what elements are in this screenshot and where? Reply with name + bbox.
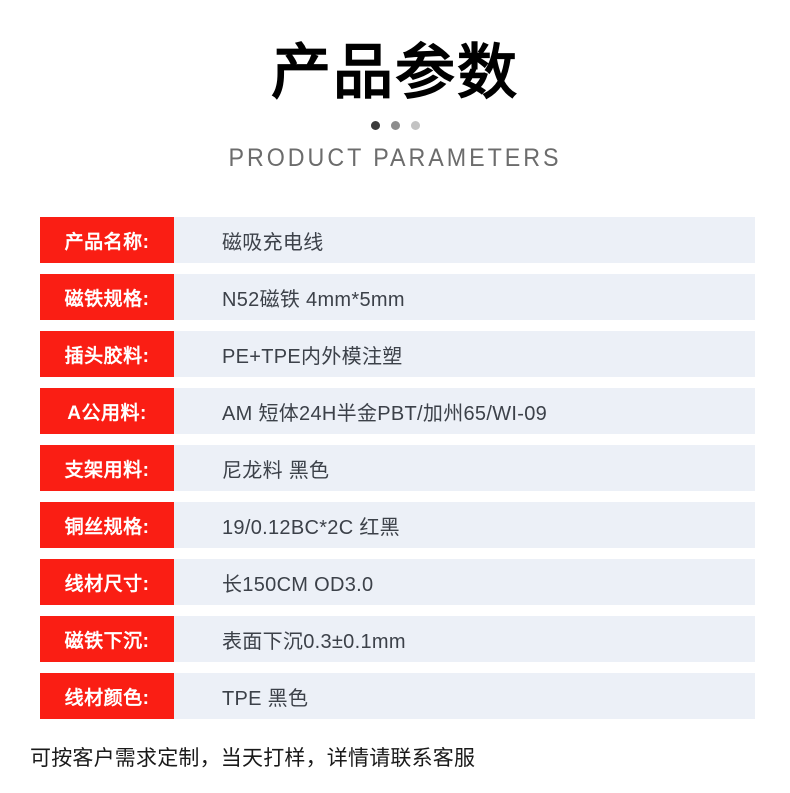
table-row: A公用料: AM 短体24H半金PBT/加州65/WI-09: [40, 388, 755, 434]
dot-light-icon: [411, 121, 420, 130]
page-title: 产品参数: [0, 38, 790, 108]
row-value: 19/0.12BC*2C 红黑: [174, 502, 755, 548]
table-row: 铜丝规格: 19/0.12BC*2C 红黑: [40, 502, 755, 548]
row-value: 表面下沉0.3±0.1mm: [174, 616, 755, 662]
row-value: 长150CM OD3.0: [174, 559, 755, 605]
footer-note: 可按客户需求定制，当天打样，详情请联系客服: [30, 745, 475, 773]
row-label: A公用料:: [40, 388, 174, 434]
table-row: 线材尺寸: 长150CM OD3.0: [40, 559, 755, 605]
row-label: 磁铁规格:: [40, 274, 174, 320]
row-value: AM 短体24H半金PBT/加州65/WI-09: [174, 388, 755, 434]
table-row: 磁铁规格: N52磁铁 4mm*5mm: [40, 274, 755, 320]
page-header: 产品参数 PRODUCT PARAMETERS: [0, 0, 790, 173]
row-value: N52磁铁 4mm*5mm: [174, 274, 755, 320]
row-value: TPE 黑色: [174, 673, 755, 719]
row-label: 铜丝规格:: [40, 502, 174, 548]
table-row: 产品名称: 磁吸充电线: [40, 217, 755, 263]
parameter-table: 产品名称: 磁吸充电线 磁铁规格: N52磁铁 4mm*5mm 插头胶料: PE…: [0, 217, 790, 719]
dot-separator: [0, 119, 790, 131]
table-row: 线材颜色: TPE 黑色: [40, 673, 755, 719]
row-label: 支架用料:: [40, 445, 174, 491]
row-value: 磁吸充电线: [174, 217, 755, 263]
row-value: 尼龙料 黑色: [174, 445, 755, 491]
table-row: 磁铁下沉: 表面下沉0.3±0.1mm: [40, 616, 755, 662]
row-label: 磁铁下沉:: [40, 616, 174, 662]
dot-medium-icon: [391, 121, 400, 130]
table-row: 插头胶料: PE+TPE内外模注塑: [40, 331, 755, 377]
row-label: 插头胶料:: [40, 331, 174, 377]
table-row: 支架用料: 尼龙料 黑色: [40, 445, 755, 491]
row-label: 产品名称:: [40, 217, 174, 263]
row-value: PE+TPE内外模注塑: [174, 331, 755, 377]
row-label: 线材颜色:: [40, 673, 174, 719]
page-subtitle: PRODUCT PARAMETERS: [28, 143, 763, 173]
dot-dark-icon: [371, 121, 380, 130]
row-label: 线材尺寸:: [40, 559, 174, 605]
